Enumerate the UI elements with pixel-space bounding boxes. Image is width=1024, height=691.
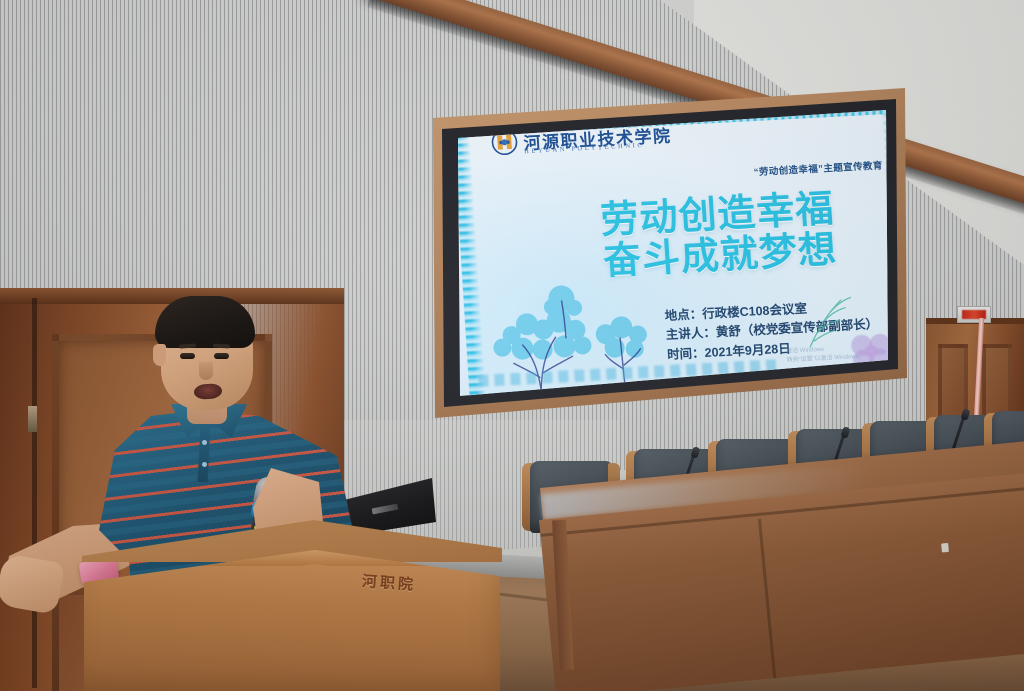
table-panel-seam: [758, 519, 776, 679]
mic-capsule-icon: [960, 408, 970, 421]
table-lock-icon: [941, 543, 949, 553]
speaker-podium[interactable]: 河职院: [62, 520, 502, 691]
exit-led-display: [957, 306, 991, 323]
mic-capsule-icon: [840, 426, 850, 439]
speaker-hair: [155, 296, 255, 348]
speaker-eye: [180, 353, 195, 359]
speaker-eye: [214, 353, 229, 359]
podium-body: [70, 546, 500, 691]
speaker-nose: [199, 362, 213, 380]
door-gap: [32, 298, 37, 688]
slide-content: 河源职业技术学院 HEYUAN POLYTECHNIC “劳动创造幸福”主题宣传…: [451, 88, 907, 403]
door-hinge-icon: [28, 406, 37, 432]
slide-title: 劳动创造幸福 奋斗成就梦想: [599, 185, 904, 283]
speaker-left-hand: [0, 553, 65, 615]
podium-label: 河职院: [361, 570, 416, 595]
speaker-eyebrow: [213, 344, 230, 349]
speaker-ear: [153, 344, 166, 366]
shirt-button: [202, 440, 207, 445]
shirt-button: [202, 462, 207, 467]
photo-scene: 河源职业技术学院 HEYUAN POLYTECHNIC “劳动创造幸福”主题宣传…: [0, 0, 1024, 691]
slide-kicker: “劳动创造幸福”主题宣传教育: [753, 158, 883, 179]
mic-capsule-icon: [690, 446, 700, 459]
presentation-screen[interactable]: 河源职业技术学院 HEYUAN POLYTECHNIC “劳动创造幸福”主题宣传…: [431, 88, 907, 418]
